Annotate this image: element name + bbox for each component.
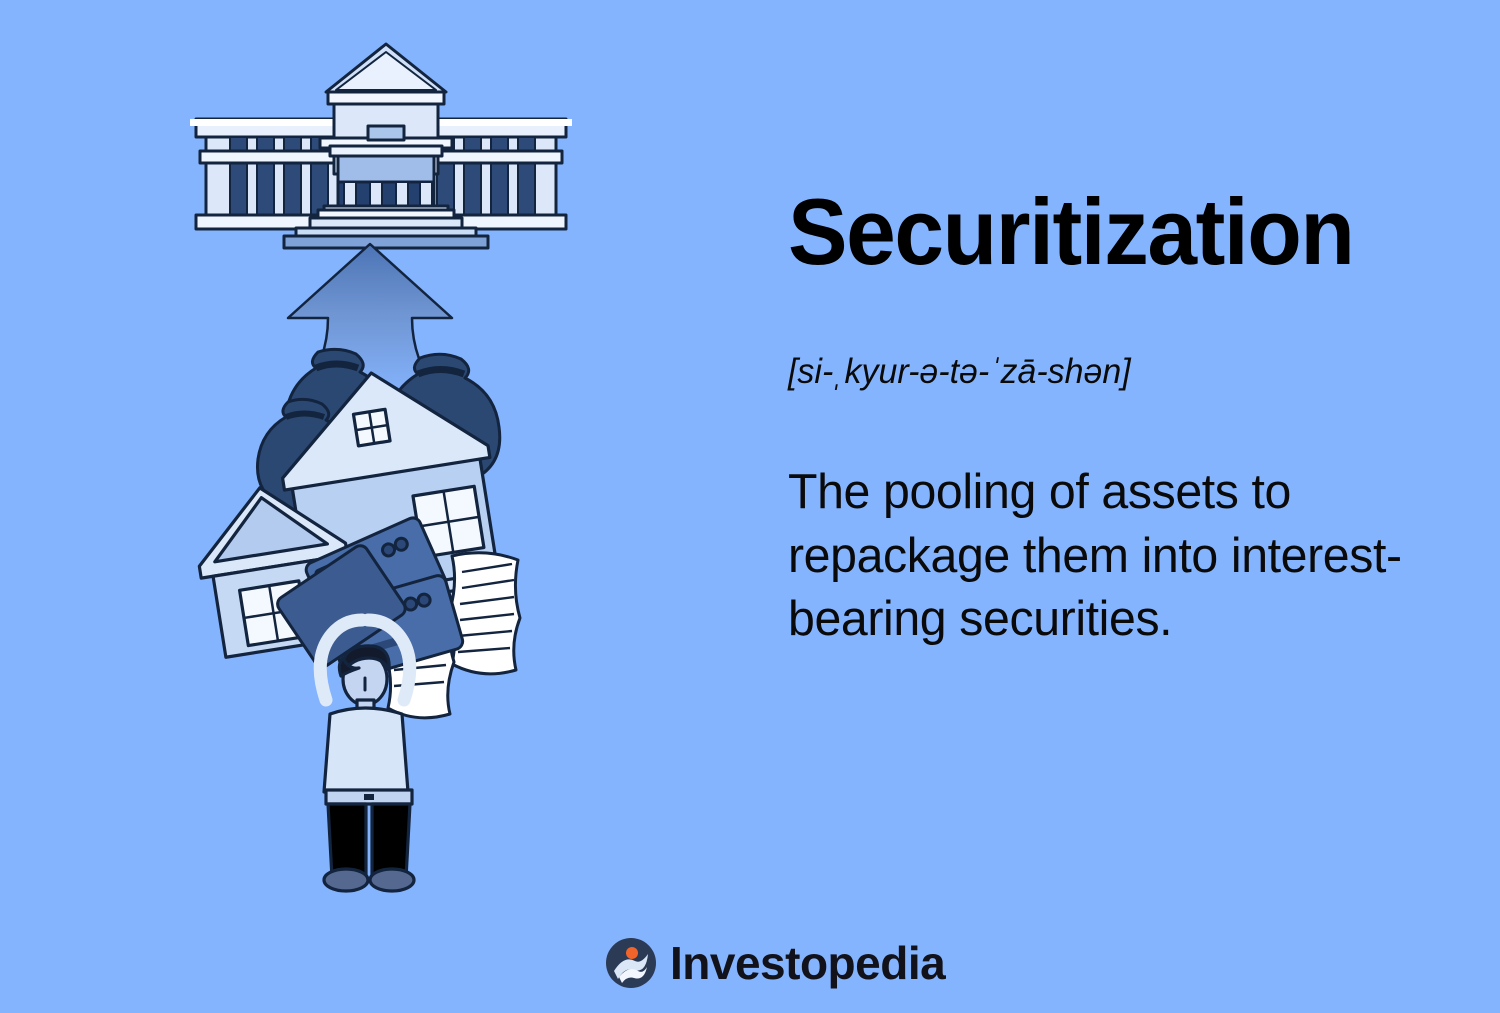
definition-card: Securitization [si-ˌkyur-ə-tə-ˈzā-shən] … bbox=[0, 0, 1500, 1013]
definition-text: The pooling of assets to repackage them … bbox=[788, 461, 1478, 652]
investopedia-wordmark: Investopedia bbox=[670, 940, 945, 986]
investopedia-logo-icon bbox=[605, 937, 657, 989]
pronunciation: [si-ˌkyur-ə-tə-ˈzā-shən] bbox=[788, 352, 1131, 392]
page-title: Securitization bbox=[788, 186, 1434, 278]
definition-text-block: Securitization [si-ˌkyur-ə-tə-ˈzā-shən] … bbox=[788, 186, 1468, 278]
investopedia-logo: Investopedia bbox=[605, 937, 945, 989]
bank-building-icon bbox=[190, 44, 572, 248]
securitization-illustration bbox=[0, 0, 740, 920]
